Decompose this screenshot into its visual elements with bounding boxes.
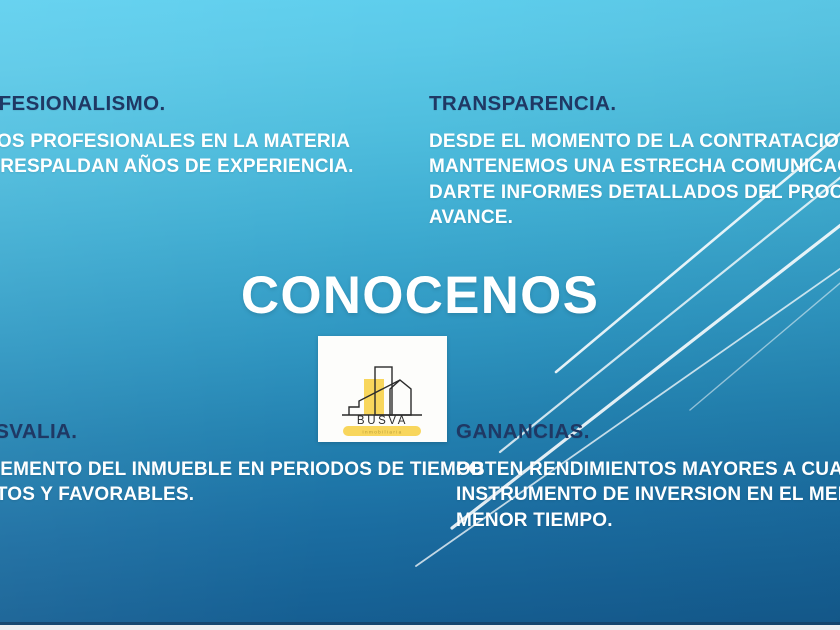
feature-body-line: INSTRUMENTO DE INVERSION EN EL MERCADO E… <box>456 482 840 508</box>
feature-body-line: OBTEN RENDIMIENTOS MAYORES A CUALQUIER <box>456 457 840 483</box>
feature-block-plusvalia: PLUSVALIA. INCREMENTO DEL INMUEBLE EN PE… <box>0 420 484 508</box>
feature-body-line: DESDE EL MOMENTO DE LA CONTRATACION <box>429 129 840 155</box>
feature-block-ganancias: GANANCIAS. OBTEN RENDIMIENTOS MAYORES A … <box>456 420 840 533</box>
feature-body-plusvalia: INCREMENTO DEL INMUEBLE EN PERIODOS DE T… <box>0 457 484 508</box>
feature-body-ganancias: OBTEN RENDIMIENTOS MAYORES A CUALQUIER I… <box>456 457 840 534</box>
feature-body-line: SOMOS PROFESIONALES EN LA MATERIA <box>0 129 354 155</box>
feature-body-line: QUE RESPALDAN AÑOS DE EXPERIENCIA. <box>0 154 354 180</box>
slide-canvas: PROFESIONALISMO. SOMOS PROFESIONALES EN … <box>0 0 840 630</box>
feature-block-profesionalismo: PROFESIONALISMO. SOMOS PROFESIONALES EN … <box>0 92 354 180</box>
feature-heading-transparencia: TRANSPARENCIA. <box>429 92 840 116</box>
feature-body-line: DARTE INFORMES DETALLADOS DEL PROCESO Y … <box>429 180 840 206</box>
feature-heading-plusvalia: PLUSVALIA. <box>0 420 484 444</box>
feature-heading-ganancias: GANANCIAS. <box>456 420 840 444</box>
feature-block-transparencia: TRANSPARENCIA. DESDE EL MOMENTO DE LA CO… <box>429 92 840 231</box>
feature-body-line: MANTENEMOS UNA ESTRECHA COMUNICACION AL <box>429 154 840 180</box>
feature-body-profesionalismo: SOMOS PROFESIONALES EN LA MATERIA QUE RE… <box>0 129 354 180</box>
slide-title: CONOCENOS <box>0 265 840 326</box>
feature-heading-profesionalismo: PROFESIONALISMO. <box>0 92 354 116</box>
feature-body-line: AVANCE. <box>429 205 840 231</box>
feature-body-transparencia: DESDE EL MOMENTO DE LA CONTRATACION MANT… <box>429 129 840 231</box>
bottom-edge-strip <box>0 625 840 630</box>
feature-body-line: INCREMENTO DEL INMUEBLE EN PERIODOS DE T… <box>0 457 484 483</box>
feature-body-line: CORTOS Y FAVORABLES. <box>0 482 484 508</box>
feature-body-line: MENOR TIEMPO. <box>456 508 840 534</box>
